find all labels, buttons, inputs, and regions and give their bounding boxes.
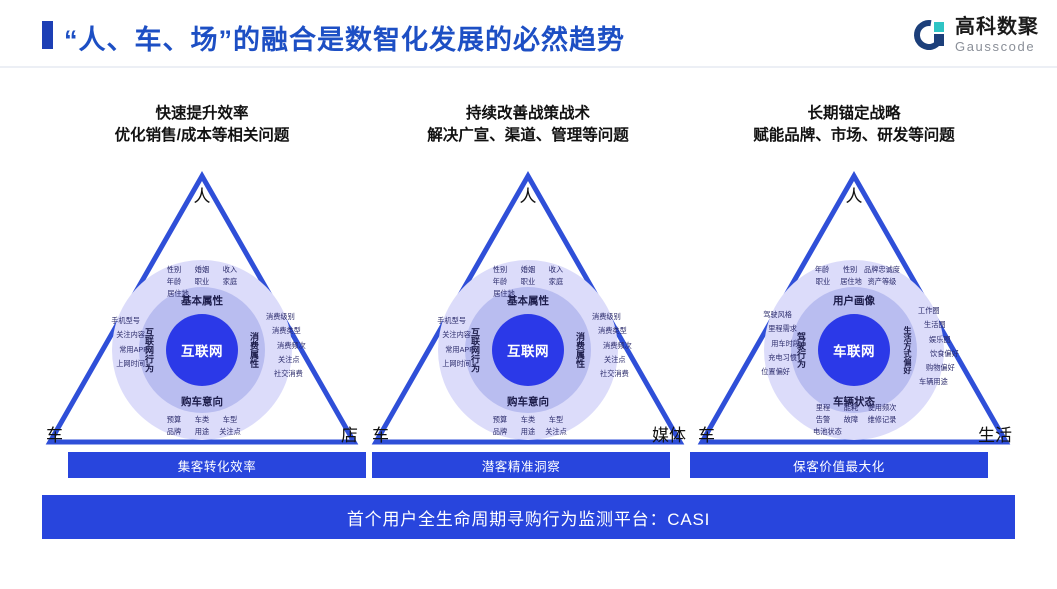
satellite-group-top: 性别婚姻收入 年龄职业家庭 居住地 <box>486 264 570 300</box>
logo-navy-square-icon <box>934 34 944 46</box>
satellite-group-bottom: 预算车类车型 品牌用途关注点 <box>160 414 244 438</box>
column-caption-2: 持续改善战策战术 解决广宣、渠道、管理等问题 <box>368 103 688 148</box>
satellite-label: 手机型号 <box>437 314 466 328</box>
ring-diagram-2: 互联网 基本属性 购车意向 互联网行为 消费属性 性别婚姻收入 年龄职业家庭 居… <box>438 260 618 440</box>
ring-label-bottom: 购车意向 <box>507 394 549 409</box>
caption-line-2: 赋能品牌、市场、研发等问题 <box>694 125 1014 147</box>
satellite-label: 娱乐圈 <box>929 333 959 347</box>
header-divider <box>0 66 1057 68</box>
satellite-label: 关注点 <box>604 353 632 367</box>
caption-line-1: 持续改善战策战术 <box>368 103 688 125</box>
satellite-label: 社交消费 <box>600 367 632 381</box>
satellite-label: 居住地 <box>490 288 518 300</box>
logo-name-en: Gausscode <box>955 40 1039 53</box>
satellite-label: 消费级别 <box>592 310 632 324</box>
satellite-label: 品牌 <box>486 426 514 438</box>
satellite-group-left: 手机型号 关注内容 常用APP 上网时间 <box>437 314 462 371</box>
satellite-label: 告警 <box>809 414 837 426</box>
satellite-label: 职业 <box>809 276 837 288</box>
satellite-label: 性别 <box>160 264 188 276</box>
satellite-label: 里程 <box>809 402 837 414</box>
platform-banner: 首个用户全生命周期寻购行为监测平台：CASI <box>42 495 1015 539</box>
brand-logo: 高科数聚 Gausscode <box>914 14 1039 56</box>
satellite-label: 上网时间 <box>437 357 471 371</box>
satellite-label: 用车时段 <box>761 337 800 351</box>
satellite-group-right: 消费级别 消费类型 消费频次 关注点 社交消费 <box>268 310 306 381</box>
satellite-group-left: 驾驶风格 里程需求 用车时段 充电习惯 位置偏好 <box>761 308 788 379</box>
satellite-label: 生活圈 <box>924 318 959 332</box>
ring-core-label: 互联网 <box>181 340 223 360</box>
ring-label-bottom: 购车意向 <box>181 394 223 409</box>
satellite-label: 用途 <box>188 426 216 438</box>
satellite-label: 预算 <box>160 414 188 426</box>
satellite-label: 上网时间 <box>111 357 145 371</box>
logo-glyph-icon <box>914 18 948 52</box>
ring-core-label: 车联网 <box>833 340 875 360</box>
satellite-label: 常用APP <box>111 343 148 357</box>
satellite-label: 车型 <box>542 414 570 426</box>
satellite-label: 品牌忠诚度 <box>864 264 900 276</box>
satellite-label: 消费类型 <box>272 324 306 338</box>
diagram-panel-3: 人 车 生活 车联网 用户画像 车辆状态 驾驶行为 生活方式偏好 年龄性别品牌忠… <box>694 160 1014 450</box>
satellite-label: 性别 <box>836 264 864 276</box>
diagram-panel-1: 人 车 店 互联网 基本属性 购车意向 互联网行为 消费属性 性别婚姻收入 年龄… <box>42 160 362 450</box>
satellite-label: 消费频次 <box>603 339 632 353</box>
column-caption-3: 长期锚定战略 赋能品牌、市场、研发等问题 <box>694 103 1014 148</box>
satellite-group-top: 年龄性别品牌忠诚度 职业居住地资产等级 <box>808 264 900 288</box>
satellite-label: 居住地 <box>164 288 192 300</box>
ring-label-right: 消费属性 <box>574 332 587 368</box>
satellite-label: 车类 <box>188 414 216 426</box>
satellite-label: 预算 <box>486 414 514 426</box>
satellite-label: 驾驶风格 <box>761 308 792 322</box>
ring-core: 互联网 <box>492 314 564 386</box>
satellite-label: 常用APP <box>437 343 474 357</box>
column-caption-1: 快速提升效率 优化销售/成本等相关问题 <box>42 103 362 148</box>
satellite-label: 居住地 <box>837 276 865 288</box>
caption-line-2: 解决广宣、渠道、管理等问题 <box>368 125 688 147</box>
satellite-group-bottom: 里程能耗使用频次 告警故障维修记录 电池状态 <box>809 402 899 438</box>
satellite-label: 位置偏好 <box>761 365 790 379</box>
satellite-label: 职业 <box>188 276 216 288</box>
satellite-label: 关注内容 <box>437 328 471 342</box>
ring-core: 车联网 <box>818 314 890 386</box>
satellite-label: 车辆用途 <box>919 375 959 389</box>
ring-label-top: 用户画像 <box>833 293 875 308</box>
satellite-label: 工作圈 <box>918 304 959 318</box>
satellite-label: 家庭 <box>216 276 244 288</box>
satellite-label: 饮食偏好 <box>930 347 959 361</box>
satellite-label: 关注点 <box>278 353 306 367</box>
satellite-label: 关注点 <box>542 426 570 438</box>
satellite-group-right: 工作圈 生活圈 娱乐圈 饮食偏好 购物偏好 车辆用途 <box>920 304 959 390</box>
satellite-label: 车型 <box>216 414 244 426</box>
satellite-label: 家庭 <box>542 276 570 288</box>
ring-core-label: 互联网 <box>507 340 549 360</box>
logo-name-cn: 高科数聚 <box>955 17 1039 37</box>
satellite-group-left: 手机型号 关注内容 常用APP 上网时间 <box>111 314 136 371</box>
satellite-label: 故障 <box>837 414 865 426</box>
vertex-left-label: 车 <box>698 421 715 446</box>
outcome-bar-3: 保客价值最大化 <box>690 452 988 478</box>
vertex-left-label: 车 <box>46 421 63 446</box>
vertex-left-label: 车 <box>372 421 389 446</box>
caption-line-1: 快速提升效率 <box>42 103 362 125</box>
satellite-label: 使用频次 <box>865 402 899 414</box>
caption-line-1: 长期锚定战略 <box>694 103 1014 125</box>
satellite-label: 社交消费 <box>274 367 306 381</box>
vertex-right-label: 店 <box>341 421 358 446</box>
satellite-label: 关注内容 <box>111 328 145 342</box>
satellite-label: 维修记录 <box>865 414 899 426</box>
satellite-label: 充电习惯 <box>761 351 797 365</box>
satellite-label: 资产等级 <box>865 276 899 288</box>
satellite-label: 用途 <box>514 426 542 438</box>
ring-label-right: 生活方式偏好 <box>902 326 913 374</box>
diagram-panel-2: 人 车 媒体 互联网 基本属性 购车意向 互联网行为 消费属性 性别婚姻收入 年… <box>368 160 688 450</box>
satellite-label: 电池状态 <box>813 426 842 438</box>
ring-core: 互联网 <box>166 314 238 386</box>
vertex-right-label: 媒体 <box>652 421 686 446</box>
satellite-label: 品牌 <box>160 426 188 438</box>
ring-label-right: 消费属性 <box>248 332 261 368</box>
satellite-group-right: 消费级别 消费类型 消费频次 关注点 社交消费 <box>594 310 632 381</box>
title-accent-bar <box>42 21 53 49</box>
satellite-label: 购物偏好 <box>926 361 959 375</box>
page-header: “人、车、场”的融合是数智化发展的必然趋势 高科数聚 Gausscode <box>0 0 1057 68</box>
satellite-label: 婚姻 <box>188 264 216 276</box>
satellite-label: 年龄 <box>808 264 836 276</box>
satellite-label: 年龄 <box>160 276 188 288</box>
outcome-bar-1: 集客转化效率 <box>68 452 366 478</box>
satellite-label: 里程需求 <box>761 322 797 336</box>
satellite-label: 消费类型 <box>598 324 632 338</box>
caption-line-2: 优化销售/成本等相关问题 <box>42 125 362 147</box>
satellite-label: 手机型号 <box>111 314 140 328</box>
satellite-label: 关注点 <box>216 426 244 438</box>
satellite-label: 消费级别 <box>266 310 306 324</box>
satellite-label: 年龄 <box>486 276 514 288</box>
vertex-top-label: 人 <box>846 182 863 207</box>
vertex-top-label: 人 <box>194 182 211 207</box>
ring-diagram-3: 车联网 用户画像 车辆状态 驾驶行为 生活方式偏好 年龄性别品牌忠诚度 职业居住… <box>764 260 944 440</box>
vertex-top-label: 人 <box>520 182 537 207</box>
satellite-label: 消费频次 <box>277 339 306 353</box>
satellite-label: 婚姻 <box>514 264 542 276</box>
outcome-bar-2: 潜客精准洞察 <box>372 452 670 478</box>
satellite-label: 职业 <box>514 276 542 288</box>
satellite-group-top: 性别婚姻收入 年龄职业家庭 居住地 <box>160 264 244 300</box>
ring-diagram-1: 互联网 基本属性 购车意向 互联网行为 消费属性 性别婚姻收入 年龄职业家庭 居… <box>112 260 292 440</box>
satellite-label: 收入 <box>216 264 244 276</box>
satellite-label: 收入 <box>542 264 570 276</box>
page-title: “人、车、场”的融合是数智化发展的必然趋势 <box>64 18 625 57</box>
logo-teal-square-icon <box>934 22 944 32</box>
satellite-label: 车类 <box>514 414 542 426</box>
satellite-label: 能耗 <box>837 402 865 414</box>
satellite-group-bottom: 预算车类车型 品牌用途关注点 <box>486 414 570 438</box>
vertex-right-label: 生活 <box>978 421 1012 446</box>
satellite-label: 性别 <box>486 264 514 276</box>
